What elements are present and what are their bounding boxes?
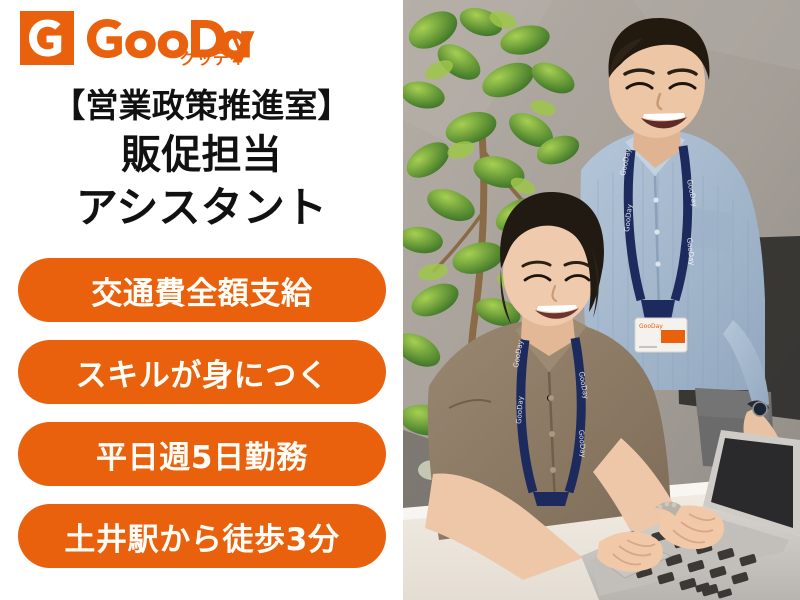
benefit-badge-location: 土井駅から徒歩3分 (18, 504, 386, 568)
recruit-banner: グッデイ 【営業政策推進室】 販促担当 アシスタント 交通費全額支給 スキルが身… (0, 0, 800, 600)
left-info-panel: グッデイ 【営業政策推進室】 販促担当 アシスタント 交通費全額支給 スキルが身… (0, 0, 403, 600)
svg-text:GooDay: GooDay (639, 323, 663, 330)
office-workers-photo: GooDay GooDay GooDay GooDay GooDay (403, 0, 800, 600)
job-department-title: 【営業政策推進室】 (0, 86, 403, 126)
benefit-badge-skills: スキルが身につく (18, 340, 386, 404)
job-position-title: アシスタント (0, 182, 403, 234)
gooday-wordmark: グッデイ (83, 11, 258, 67)
benefit-badge-transport: 交通費全額支給 (18, 258, 386, 322)
job-benefits-list: 交通費全額支給 スキルが身につく 平日週5日勤務 土井駅から徒歩3分 (18, 258, 386, 568)
gooday-g-logo-icon (20, 11, 74, 65)
svg-text:グッデイ: グッデイ (180, 49, 246, 67)
brand-logo: グッデイ (20, 11, 258, 67)
benefit-badge-schedule: 平日週5日勤務 (18, 422, 386, 486)
job-role-title: 販促担当 (0, 130, 403, 180)
job-title-block: 【営業政策推進室】 販促担当 アシスタント (0, 86, 403, 234)
